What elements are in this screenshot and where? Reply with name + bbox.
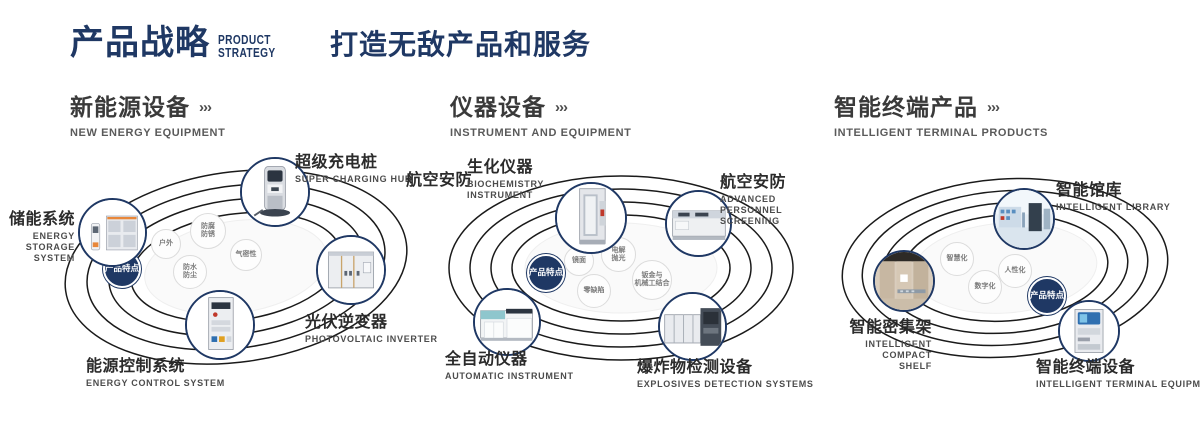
label-advanced-personnel-screening: 航空安防 ADVANCED PERSONNEL SCREENING — [720, 175, 815, 228]
product-strategy-infographic: 产品战略 PRODUCT STRATEGY 打造无敌产品和服务 新能源设备›››… — [0, 0, 1200, 422]
node-label-cn: 爆炸物检测设备 — [637, 360, 814, 377]
control-cabinet-icon — [187, 292, 253, 358]
smart-library-room-icon — [995, 190, 1053, 248]
page-header: 产品战略 PRODUCT STRATEGY 打造无敌产品和服务 — [0, 0, 1200, 88]
node-photovoltaic-inverter[interactable] — [316, 235, 386, 305]
node-label-en: EXPLOSIVES DETECTION SYSTEMS — [637, 379, 814, 390]
section-header-new-energy: 新能源设备››› NEW ENERGY EQUIPMENT — [70, 96, 225, 139]
node-intelligent-library[interactable] — [993, 188, 1055, 250]
node-label-en: INTELLIGENT LIBRARY — [1056, 202, 1170, 213]
node-label-cn: 航空安防 — [720, 175, 815, 192]
page-title: 产品战略 — [70, 26, 210, 60]
section-title-cn: 智能终端产品 — [834, 94, 978, 120]
node-label-cn: 航空安防 — [406, 173, 472, 190]
node-label-en: ADVANCED PERSONNEL SCREENING — [720, 194, 815, 228]
energy-storage-cabinet-icon — [80, 200, 145, 265]
label-intelligent-compact-shelf: 智能密集架 INTELLIGENT COMPACT SHELF — [816, 320, 932, 373]
cluster-instrument-and-equipment: 镜面 电解 抛光 零缺陷 钣金与 机械工结合 产品特点 航空安防 生化仪器 BI… — [425, 160, 815, 385]
label-photovoltaic-inverter: 光伏逆变器 PHOTOVOLTAIC INVERTER — [305, 315, 438, 345]
label-explosives-detection-systems: 爆炸物检测设备 EXPLOSIVES DETECTION SYSTEMS — [637, 360, 814, 390]
section-title-cn: 新能源设备 — [70, 94, 190, 120]
feature-bubble-outdoor: 户外 — [151, 229, 181, 259]
node-intelligent-compact-shelf[interactable] — [873, 250, 935, 312]
feature-bubble-zero-defect: 零缺陷 — [577, 274, 611, 308]
section-header-instrument: 仪器设备››› INSTRUMENT AND EQUIPMENT — [450, 96, 631, 139]
feature-bubble-anticorrosion: 防腐 防锈 — [190, 213, 226, 249]
explosives-detector-icon — [660, 294, 725, 359]
node-label-cn: 光伏逆变器 — [305, 315, 438, 332]
node-label-en: ENERGY CONTROL SYSTEM — [86, 378, 225, 389]
automatic-analyzer-icon — [475, 290, 539, 354]
feature-bubble-airtight: 气密性 — [230, 239, 262, 271]
biochemistry-scanner-icon — [557, 184, 625, 252]
label-energy-control-system: 能源控制系统 ENERGY CONTROL SYSTEM — [86, 359, 225, 389]
label-intelligent-terminal-equipment: 智能终端设备 INTELLIGENT TERMINAL EQUIPMENT — [1036, 360, 1200, 390]
chevron-right-icon: ››› — [555, 100, 567, 115]
self-service-kiosk-icon — [1060, 302, 1118, 360]
label-aviation-security-extra: 航空安防 — [406, 173, 472, 190]
node-energy-control-system[interactable] — [185, 290, 255, 360]
node-label-cn: 储能系统 — [0, 212, 75, 229]
node-label-cn: 智能终端设备 — [1036, 360, 1200, 377]
node-label-cn: 智能馆库 — [1056, 183, 1170, 200]
node-label-en: INTELLIGENT COMPACT SHELF — [816, 339, 932, 373]
node-label-en: ENERGY STORAGE SYSTEM — [0, 231, 75, 265]
cluster-intelligent-terminal-products: 智慧化 数字化 人性化 产品特点 智能馆库 INTELLIGENT — [820, 160, 1190, 385]
feature-bubble-humanized: 人性化 — [998, 254, 1032, 288]
label-automatic-instrument: 全自动仪器 AUTOMATIC INSTRUMENT — [445, 352, 574, 382]
node-label-cn: 全自动仪器 — [445, 352, 574, 369]
node-energy-storage-system[interactable] — [78, 198, 147, 267]
label-super-charging-hub: 超级充电桩 SUPER CHARGING HUB — [295, 155, 412, 185]
pv-inverter-cabinet-icon — [318, 237, 384, 303]
node-biochemistry-instrument[interactable] — [555, 182, 627, 254]
page-subtitle: 打造无敌产品和服务 — [330, 31, 591, 59]
node-automatic-instrument[interactable] — [473, 288, 541, 356]
node-label-en: SUPER CHARGING HUB — [295, 174, 412, 185]
node-label-en: BIOCHEMISTRY INSTRUMENT — [467, 179, 544, 202]
core-bubble-product-features: 产品特点 — [527, 254, 565, 292]
cluster-new-energy-equipment: 户外 防腐 防锈 防水 防尘 气密性 产品特点 储能系统 ENERGY STOR… — [55, 155, 415, 385]
node-label-en: INTELLIGENT TERMINAL EQUIPMENT — [1036, 379, 1200, 390]
page-title-english: PRODUCT STRATEGY — [218, 33, 276, 59]
chevron-right-icon: ››› — [199, 100, 211, 115]
node-label-cn: 能源控制系统 — [86, 359, 225, 376]
section-header-intelligent-terminal: 智能终端产品››› INTELLIGENT TERMINAL PRODUCTS — [834, 96, 1048, 139]
label-intelligent-library: 智能馆库 INTELLIGENT LIBRARY — [1056, 183, 1170, 213]
feature-bubble-intelligent: 智慧化 — [940, 242, 974, 276]
label-biochemistry-instrument: 生化仪器 BIOCHEMISTRY INSTRUMENT — [467, 160, 544, 201]
node-label-cn: 超级充电桩 — [295, 155, 412, 172]
chevron-right-icon: ››› — [987, 100, 999, 115]
section-title-cn: 仪器设备 — [450, 94, 546, 120]
node-explosives-detection-systems[interactable] — [658, 292, 727, 361]
section-title-en: INSTRUMENT AND EQUIPMENT — [450, 127, 631, 139]
feature-bubble-digital: 数字化 — [968, 270, 1002, 304]
node-intelligent-terminal-equipment[interactable] — [1058, 300, 1120, 362]
compact-shelving-icon — [875, 252, 933, 310]
section-title-en: NEW ENERGY EQUIPMENT — [70, 127, 225, 139]
section-title-en: INTELLIGENT TERMINAL PRODUCTS — [834, 127, 1048, 139]
node-label-cn: 生化仪器 — [467, 160, 544, 177]
node-label-en: AUTOMATIC INSTRUMENT — [445, 371, 574, 382]
node-label-en: PHOTOVOLTAIC INVERTER — [305, 334, 438, 345]
feature-bubble-waterproof: 防水 防尘 — [173, 255, 207, 289]
node-label-cn: 智能密集架 — [816, 320, 932, 337]
label-energy-storage-system: 储能系统 ENERGY STORAGE SYSTEM — [0, 212, 75, 265]
